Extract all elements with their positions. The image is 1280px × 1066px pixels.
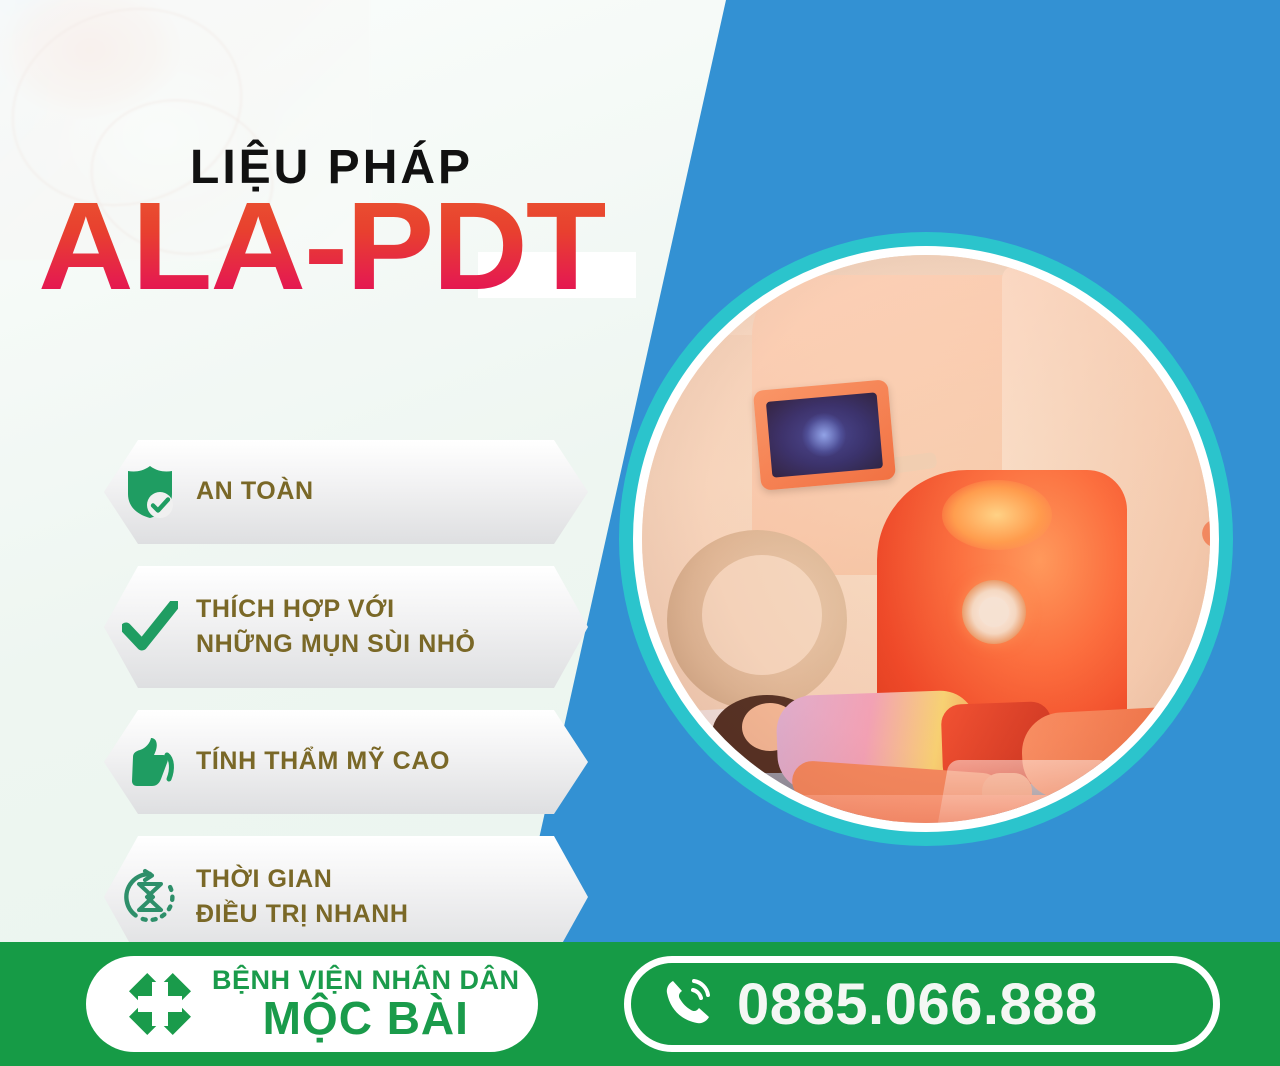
feature-label: THỜI GIAN ĐIỀU TRỊ NHANH [196, 862, 409, 933]
feature-label: THÍCH HỢP VỚI NHỮNG MỤN SÙI NHỎ [196, 592, 476, 663]
feature-card-thoi-gian[interactable]: THỜI GIAN ĐIỀU TRỊ NHANH [104, 836, 588, 958]
phone-number: 0885.066.888 [737, 971, 1098, 1038]
hospital-name: BỆNH VIỆN NHÂN DÂN MỘC BÀI [212, 966, 520, 1043]
shield-check-icon [104, 440, 196, 544]
thumbs-up-icon [104, 710, 196, 814]
feature-list: AN TOÀN THÍCH HỢP VỚI NHỮNG MỤN SÙI NHỎ [104, 440, 604, 980]
feature-label: TÍNH THẨM MỸ CAO [196, 744, 450, 780]
poster-canvas: LIỆU PHÁP ALA-PDT AN TOÀN [0, 0, 1280, 1066]
headline-brand: ALA-PDT [38, 184, 605, 309]
hospital-name-line2: MỘC BÀI [212, 994, 520, 1042]
checkmark-icon [104, 566, 196, 688]
hourglass-clock-icon [104, 836, 196, 958]
feature-card-tham-my[interactable]: TÍNH THẨM MỸ CAO [104, 710, 588, 814]
feature-label: AN TOÀN [196, 474, 314, 510]
hospital-name-line1: BỆNH VIỆN NHÂN DÂN [212, 966, 520, 994]
footer-bar: BỆNH VIỆN NHÂN DÂN MỘC BÀI 0885.066.888 [0, 942, 1280, 1066]
phone-ringing-icon [657, 971, 719, 1038]
phone-cta-pill[interactable]: 0885.066.888 [624, 956, 1220, 1052]
treatment-photo [633, 246, 1219, 832]
hospital-logo-pill[interactable]: BỆNH VIỆN NHÂN DÂN MỘC BÀI [86, 956, 538, 1052]
hospital-cross-diamond-icon [114, 958, 206, 1050]
feature-card-an-toan[interactable]: AN TOÀN [104, 440, 588, 544]
feature-card-thich-hop[interactable]: THÍCH HỢP VỚI NHỮNG MỤN SÙI NHỎ [104, 566, 588, 688]
